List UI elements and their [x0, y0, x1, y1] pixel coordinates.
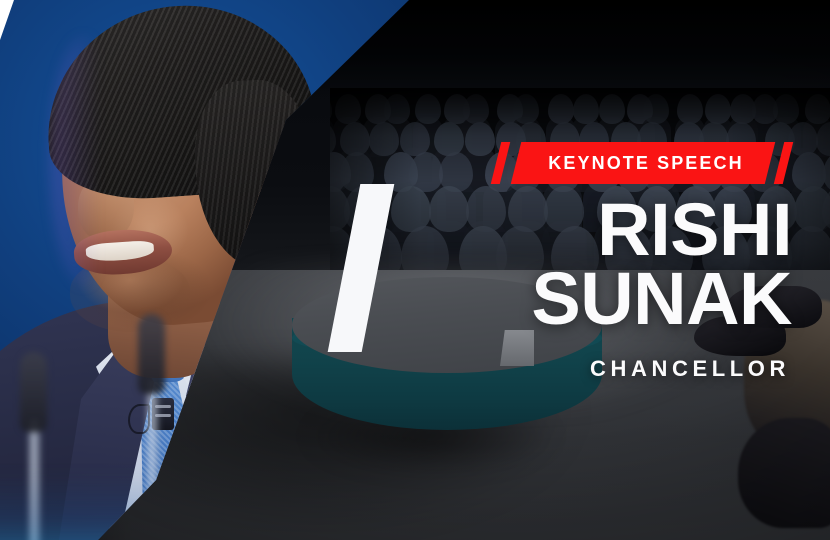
title-block: RISHI SUNAK CHANCELLOR: [400, 196, 820, 382]
title-line-last: SUNAK: [400, 265, 820, 334]
title-card-graphic: KEYNOTE SPEECH RISHI SUNAK CHANCELLOR: [0, 0, 830, 540]
title-line-first: RISHI: [400, 196, 820, 265]
title-subtitle: CHANCELLOR: [400, 356, 820, 382]
rim-light: [50, 36, 120, 286]
microphone-head: [138, 314, 165, 394]
banner-label: KEYNOTE SPEECH: [530, 142, 762, 184]
microphone-head: [20, 352, 47, 432]
